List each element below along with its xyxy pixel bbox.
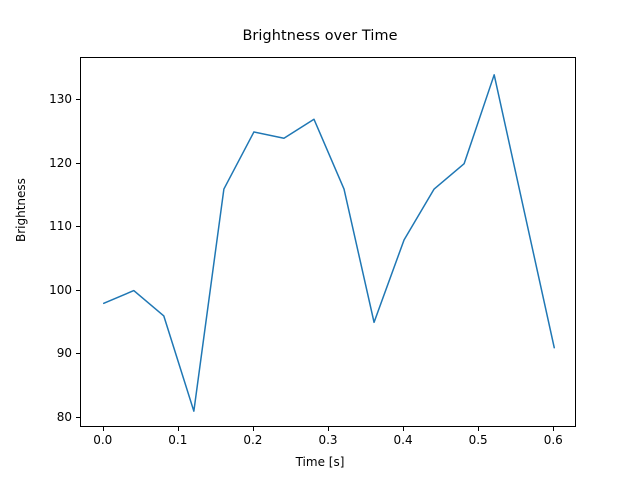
y-tick-label: 80 (57, 410, 72, 424)
x-tick-label: 0.1 (168, 433, 187, 447)
chart-title: Brightness over Time (0, 28, 640, 44)
y-tick-label: 90 (57, 346, 72, 360)
x-tick-label: 0.6 (544, 433, 563, 447)
y-tick-label: 110 (49, 219, 72, 233)
y-tick-label: 130 (49, 92, 72, 106)
line-chart-svg (81, 58, 577, 428)
x-tick-label: 0.3 (318, 433, 337, 447)
chart-figure: Brightness over Time 8090100110120130 0.… (0, 0, 640, 480)
y-tick-label: 100 (49, 283, 72, 297)
x-axis-label: Time [s] (0, 455, 640, 469)
x-tick-label: 0.2 (243, 433, 262, 447)
x-tick-label: 0.0 (93, 433, 112, 447)
x-tick-label: 0.4 (394, 433, 413, 447)
y-tick-label: 120 (49, 156, 72, 170)
brightness-line (104, 75, 555, 411)
y-axis-label: Brightness (14, 178, 28, 242)
plot-area (80, 57, 576, 427)
x-tick-label: 0.5 (469, 433, 488, 447)
